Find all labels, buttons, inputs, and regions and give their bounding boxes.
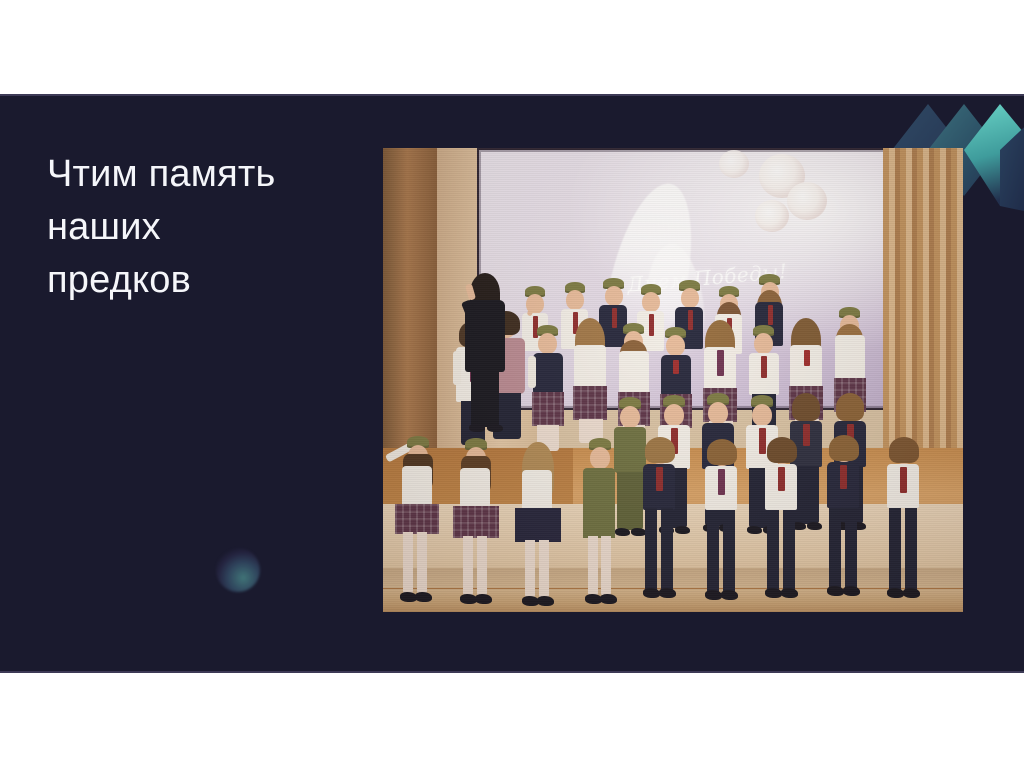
canvas-top-edge [0,94,1024,96]
carnation-flower-icon [755,200,789,232]
title-block: Чтим память наших предков [47,148,347,307]
page-title: Чтим память наших предков [47,148,347,307]
hall-wall-left [383,148,437,478]
diamond-shape-lower [1000,114,1024,214]
slide-canvas: Чтим память наших предков [0,94,1024,672]
letterbox-top [0,0,1024,94]
carnation-flower-icon [787,182,827,220]
carnation-flower-icon [719,150,749,178]
stage-photograph: С Днем Победы! [383,148,963,612]
letterbox-bottom [0,673,1024,767]
slide-root: Чтим память наших предков [0,0,1024,767]
circle-glow-decoration [216,548,260,592]
diamond-shape-right [964,104,1024,206]
